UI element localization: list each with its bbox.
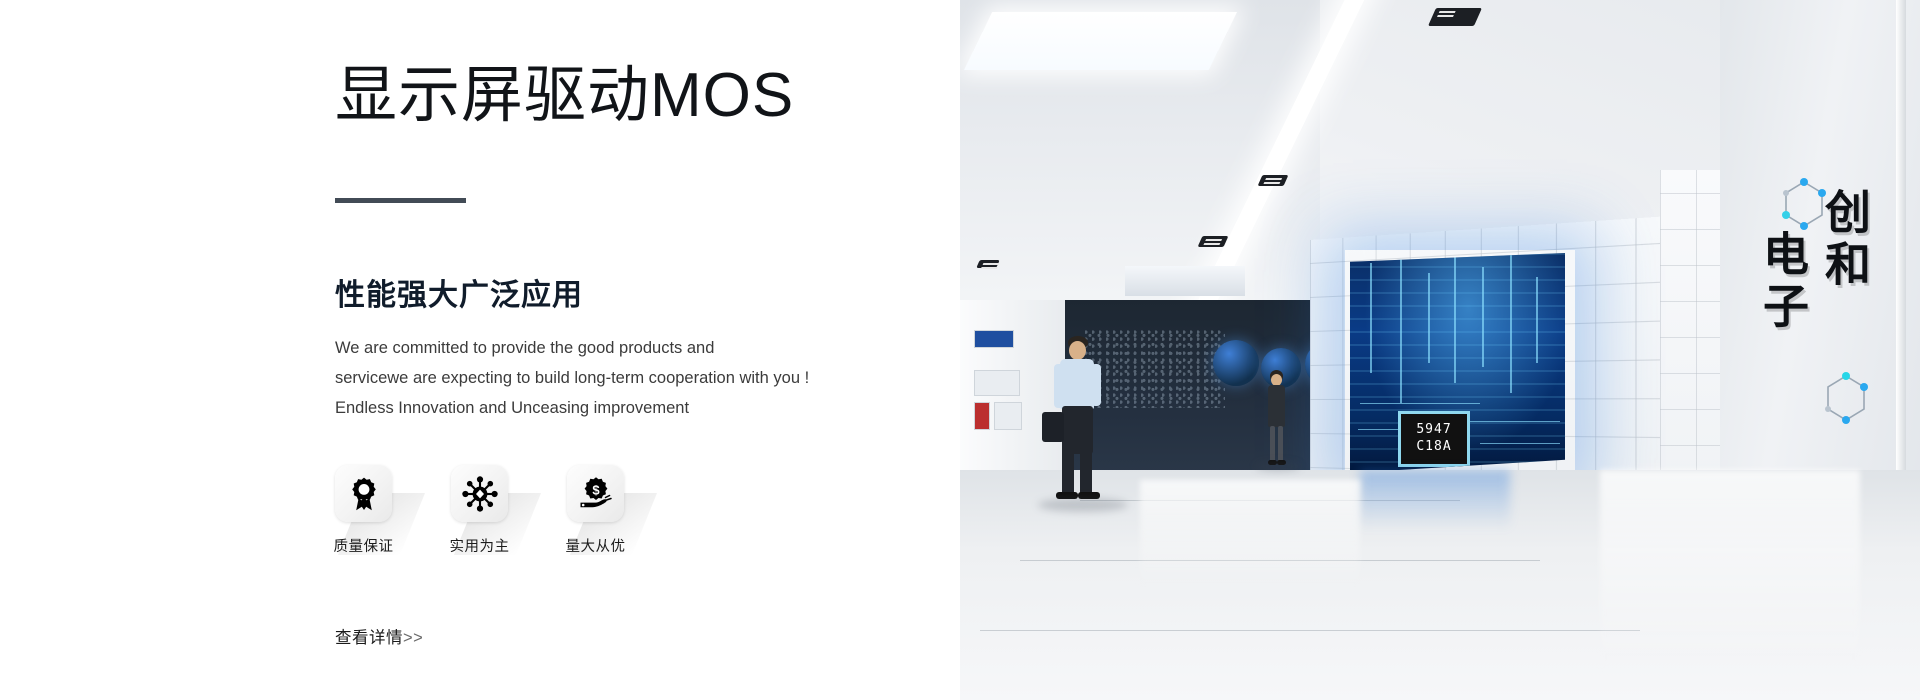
banner-description: We are committed to provide the good pro… <box>335 333 809 423</box>
feature-tile[interactable] <box>335 465 392 522</box>
led-floor-reflection <box>1360 470 1510 530</box>
view-details-label: 查看详情 <box>335 629 403 647</box>
ceiling-spotlight-icon <box>1258 175 1289 186</box>
molecule-hexagon-icon <box>1778 178 1830 238</box>
description-line-2: servicewe are expecting to build long-te… <box>335 363 809 393</box>
brand-sign-text-left: 电子 <box>1760 230 1806 334</box>
exhibit-disc <box>1213 340 1259 386</box>
chip-line-1: 5947 <box>1416 422 1451 437</box>
wall-poster <box>974 402 990 430</box>
chip-line-2: C18A <box>1416 439 1451 454</box>
hand-money-icon: $ <box>578 476 614 512</box>
chip-label: 5947 C18A <box>1398 411 1470 467</box>
description-line-1: We are committed to provide the good pro… <box>335 333 809 363</box>
medal-icon <box>346 476 382 512</box>
floor-highlight <box>1140 480 1360 590</box>
person-shadow <box>1256 462 1300 471</box>
person-shadow <box>1038 498 1128 512</box>
showroom-photo: 5947 C18A 创和 电子 <box>960 0 1920 700</box>
ceiling-spotlight-icon <box>1198 236 1229 247</box>
feature-label: 质量保证 <box>334 535 394 556</box>
feature-item-practical[interactable]: 实用为主 <box>451 465 508 522</box>
banner-text-panel: 显示屏驱动MOS 性能强大广泛应用 We are committed to pr… <box>0 0 960 700</box>
molecule-hexagon-icon <box>1820 372 1872 432</box>
ceiling-spotlight-icon <box>1428 8 1482 26</box>
feature-label: 实用为主 <box>450 535 510 556</box>
person-visitor <box>1260 370 1294 468</box>
led-circuit-screen: 5947 C18A <box>1350 253 1565 473</box>
page-title: 显示屏驱动MOS <box>335 62 794 130</box>
wall-poster <box>974 330 1014 348</box>
person-businessman <box>1044 336 1116 506</box>
feature-tile[interactable]: $ <box>567 465 624 522</box>
view-details-arrows: >> <box>403 629 423 647</box>
feature-list: 质量保证 <box>335 465 624 522</box>
network-hub-icon <box>462 476 498 512</box>
feature-item-bulk-discount[interactable]: $ 量大从优 <box>567 465 624 522</box>
feature-label: 量大从优 <box>566 535 626 556</box>
floor-highlight <box>1600 470 1860 670</box>
svg-text:$: $ <box>592 482 600 497</box>
floor-seam <box>980 630 1640 631</box>
feature-tile[interactable] <box>451 465 508 522</box>
banner-subtitle: 性能强大广泛应用 <box>335 270 583 314</box>
ceiling-spotlight-icon <box>976 260 1000 268</box>
feature-item-quality[interactable]: 质量保证 <box>335 465 392 522</box>
ceiling-panel-light <box>1125 266 1245 296</box>
wall-poster <box>974 370 1020 396</box>
ceiling-skylight-panel <box>964 12 1237 70</box>
view-details-link[interactable]: 查看详情>> <box>335 624 423 648</box>
title-divider <box>335 198 466 203</box>
description-line-3: Endless Innovation and Unceasing improve… <box>335 393 809 423</box>
promo-banner: 5947 C18A 创和 电子 <box>0 0 1920 700</box>
wall-poster <box>994 402 1022 430</box>
